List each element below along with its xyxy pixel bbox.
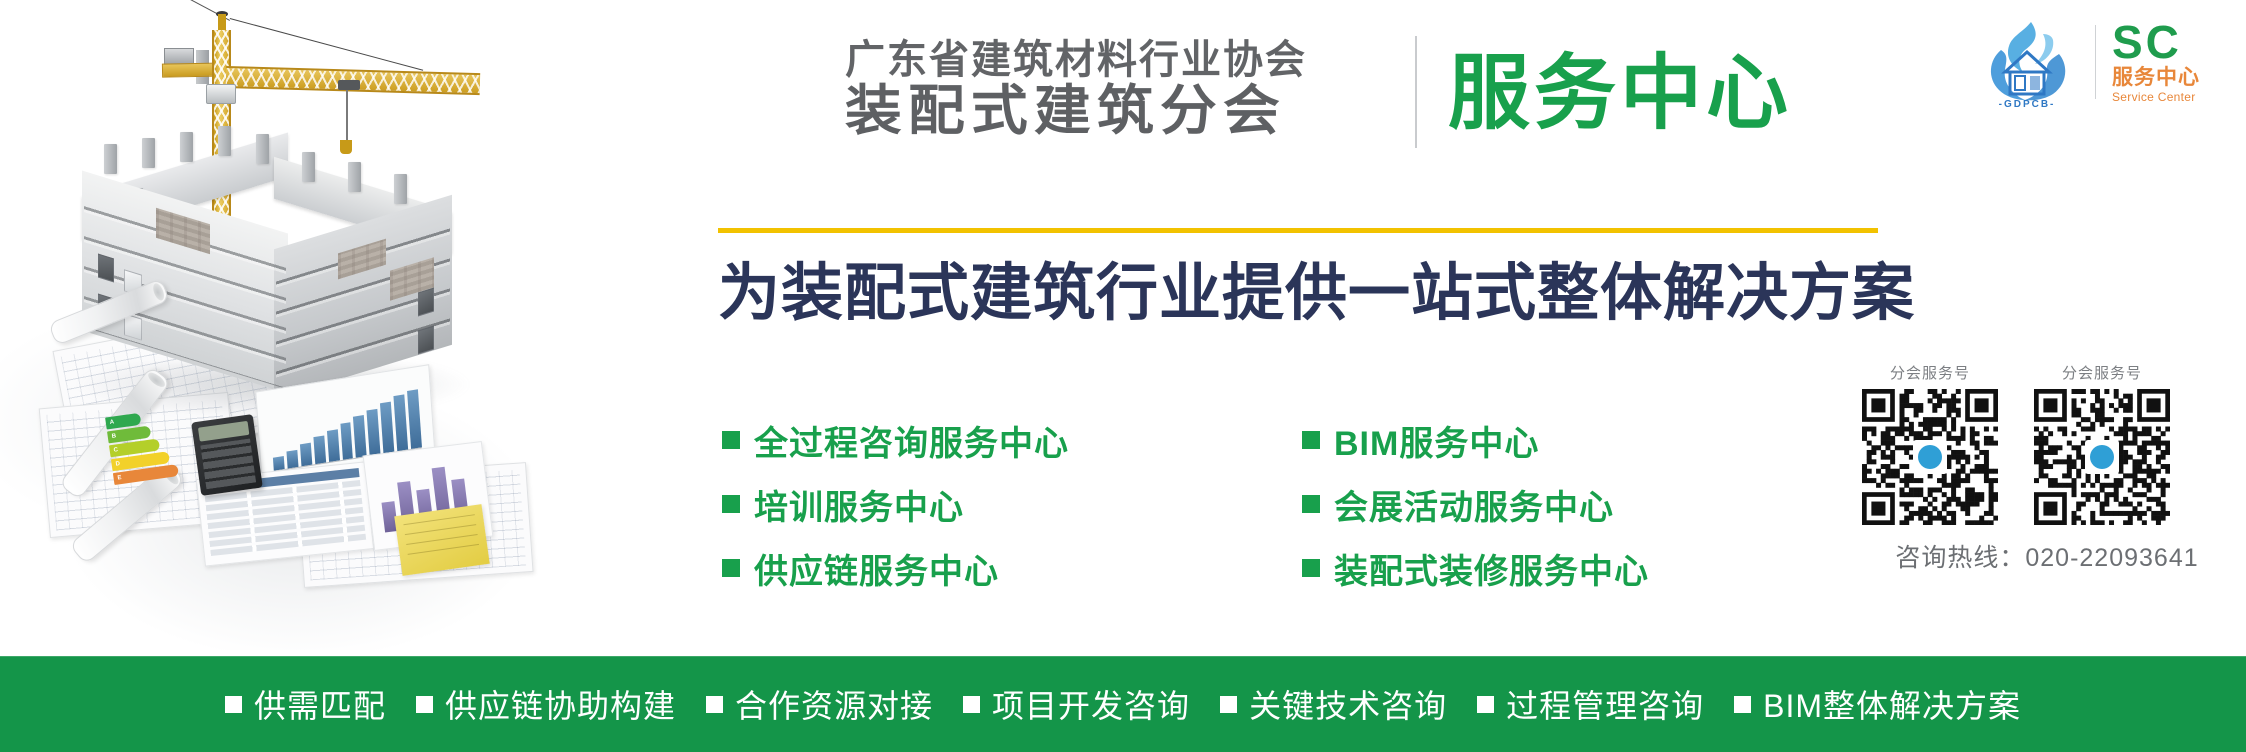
logo-initials: SC xyxy=(2112,20,2200,64)
window-opening xyxy=(418,326,434,355)
service-center-heading: 服务中心 xyxy=(1448,50,1792,138)
qr-code-image-1[interactable] xyxy=(1862,389,1998,525)
footer-items-container: 供需匹配 供应链协助构建 合作资源对接 项目开发咨询 关键技术咨询 过程管理咨询 xyxy=(225,681,2021,727)
square-bullet-icon xyxy=(1220,696,1237,713)
qr-code-image-2[interactable] xyxy=(2034,389,2170,525)
crane-tie-cable-right xyxy=(230,18,423,71)
roof-column xyxy=(394,174,407,204)
qr-center-logo xyxy=(1913,440,1947,474)
calculator-keypad xyxy=(200,439,256,490)
association-title-block: 广东省建筑材料行业协会 装配式建筑分会 xyxy=(845,38,1405,140)
footer-item[interactable]: 供应链协助构建 xyxy=(416,681,676,727)
service-list-item-label: 供应链服务中心 xyxy=(754,544,999,593)
footer-item-label: 合作资源对接 xyxy=(735,681,933,727)
service-list-item[interactable]: 会展活动服务中心 xyxy=(1302,472,1649,536)
footer-item-label: 供应链协助构建 xyxy=(445,681,676,727)
logo-english-name: Service Center xyxy=(2112,90,2200,105)
square-bullet-icon xyxy=(1302,495,1320,513)
square-bullet-icon xyxy=(1477,696,1494,713)
square-bullet-icon xyxy=(225,696,242,713)
roof-column xyxy=(104,144,117,174)
gdpcb-logo-svg xyxy=(1975,16,2079,108)
footer-item[interactable]: 项目开发咨询 xyxy=(963,681,1190,727)
square-bullet-icon xyxy=(706,696,723,713)
service-list-item[interactable]: 培训服务中心 xyxy=(722,472,1069,536)
service-list-item-label: 会展活动服务中心 xyxy=(1334,480,1614,529)
promotional-banner: HOME EXPENSES A B C D E xyxy=(0,0,2246,752)
energy-efficiency-label: A B C D E xyxy=(105,407,191,493)
title-vertical-divider xyxy=(1415,36,1417,148)
footer-item[interactable]: 过程管理咨询 xyxy=(1477,681,1704,727)
service-list-item-label: 培训服务中心 xyxy=(754,480,964,529)
footer-item-label: BIM整体解决方案 xyxy=(1763,681,2021,727)
roof-column xyxy=(348,162,361,192)
footer-item[interactable]: 合作资源对接 xyxy=(706,681,933,727)
association-name-line1: 广东省建筑材料行业协会 xyxy=(845,38,1405,82)
square-bullet-icon xyxy=(722,495,740,513)
association-branch-line2: 装配式建筑分会 xyxy=(845,82,1433,140)
service-list-right-column: BIM服务中心 会展活动服务中心 装配式装修服务中心 xyxy=(1302,408,1649,600)
square-bullet-icon xyxy=(416,696,433,713)
qr-code-caption: 分会服务号 xyxy=(2034,362,2170,383)
qr-code-row: 分会服务号 分会服务号 xyxy=(1862,362,2222,525)
footer-item-label: 供需匹配 xyxy=(254,681,386,727)
footer-services-bar: 供需匹配 供应链协助构建 合作资源对接 项目开发咨询 关键技术咨询 过程管理咨询 xyxy=(0,656,2246,752)
logo-divider xyxy=(2095,25,2096,99)
crane-trolley xyxy=(338,80,360,90)
footer-item-label: 关键技术咨询 xyxy=(1249,681,1447,727)
roof-column xyxy=(302,152,315,182)
footer-top-hairline xyxy=(0,656,2246,657)
square-bullet-icon xyxy=(1734,696,1751,713)
gdpcb-caption: -GDPCB- xyxy=(1975,99,2079,110)
crane-operator-cab xyxy=(206,84,236,104)
square-bullet-icon xyxy=(722,559,740,577)
service-list-item[interactable]: 装配式装修服务中心 xyxy=(1302,536,1649,600)
sticky-note xyxy=(394,504,489,576)
square-bullet-icon xyxy=(1302,559,1320,577)
service-list-item[interactable]: BIM服务中心 xyxy=(1302,408,1649,472)
logo-chinese-name: 服务中心 xyxy=(2112,66,2200,90)
service-list-item[interactable]: 全过程咨询服务中心 xyxy=(722,408,1069,472)
service-list-item[interactable]: 供应链服务中心 xyxy=(722,536,1069,600)
service-list-left-column: 全过程咨询服务中心 培训服务中心 供应链服务中心 xyxy=(722,408,1069,600)
roof-column xyxy=(180,132,193,162)
calculator-screen xyxy=(198,421,249,442)
hero-construction-image: HOME EXPENSES A B C D E xyxy=(0,0,700,650)
footer-item[interactable]: 关键技术咨询 xyxy=(1220,681,1447,727)
square-bullet-icon xyxy=(1302,431,1320,449)
roof-column xyxy=(218,126,231,156)
qr-code-block: 分会服务号 分会服务号 xyxy=(1862,362,2222,525)
qr-code-caption: 分会服务号 xyxy=(1862,362,1998,383)
qr-center-logo xyxy=(2085,440,2119,474)
footer-item-label: 项目开发咨询 xyxy=(992,681,1190,727)
window-opening xyxy=(98,254,114,283)
window-opening xyxy=(418,288,434,317)
footer-item[interactable]: BIM整体解决方案 xyxy=(1734,681,2021,727)
square-bullet-icon xyxy=(722,431,740,449)
square-bullet-icon xyxy=(963,696,980,713)
footer-item-label: 过程管理咨询 xyxy=(1506,681,1704,727)
logo-text-block: SC 服务中心 Service Center xyxy=(2112,20,2200,105)
hotline-text: 咨询热线：020-22093641 xyxy=(1862,538,2232,574)
service-list-item-label: 全过程咨询服务中心 xyxy=(754,416,1069,465)
qr-code-cell[interactable]: 分会服务号 xyxy=(2034,362,2170,525)
service-list-item-label: BIM服务中心 xyxy=(1334,416,1539,465)
qr-center-dot-icon xyxy=(1918,445,1942,469)
calculator xyxy=(191,414,263,496)
logo-lockup[interactable]: -GDPCB- SC 服务中心 Service Center xyxy=(1975,16,2200,108)
gdpcb-house-flame-icon: -GDPCB- xyxy=(1975,16,2079,108)
footer-item[interactable]: 供需匹配 xyxy=(225,681,386,727)
roof-column xyxy=(142,138,155,168)
qr-code-cell[interactable]: 分会服务号 xyxy=(1862,362,1998,525)
gold-divider-rule xyxy=(718,228,1878,233)
page-headline: 为装配式建筑行业提供一站式整体解决方案 xyxy=(718,258,1915,330)
roof-column xyxy=(256,134,269,164)
qr-center-dot-icon xyxy=(2090,445,2114,469)
service-list-item-label: 装配式装修服务中心 xyxy=(1334,544,1649,593)
